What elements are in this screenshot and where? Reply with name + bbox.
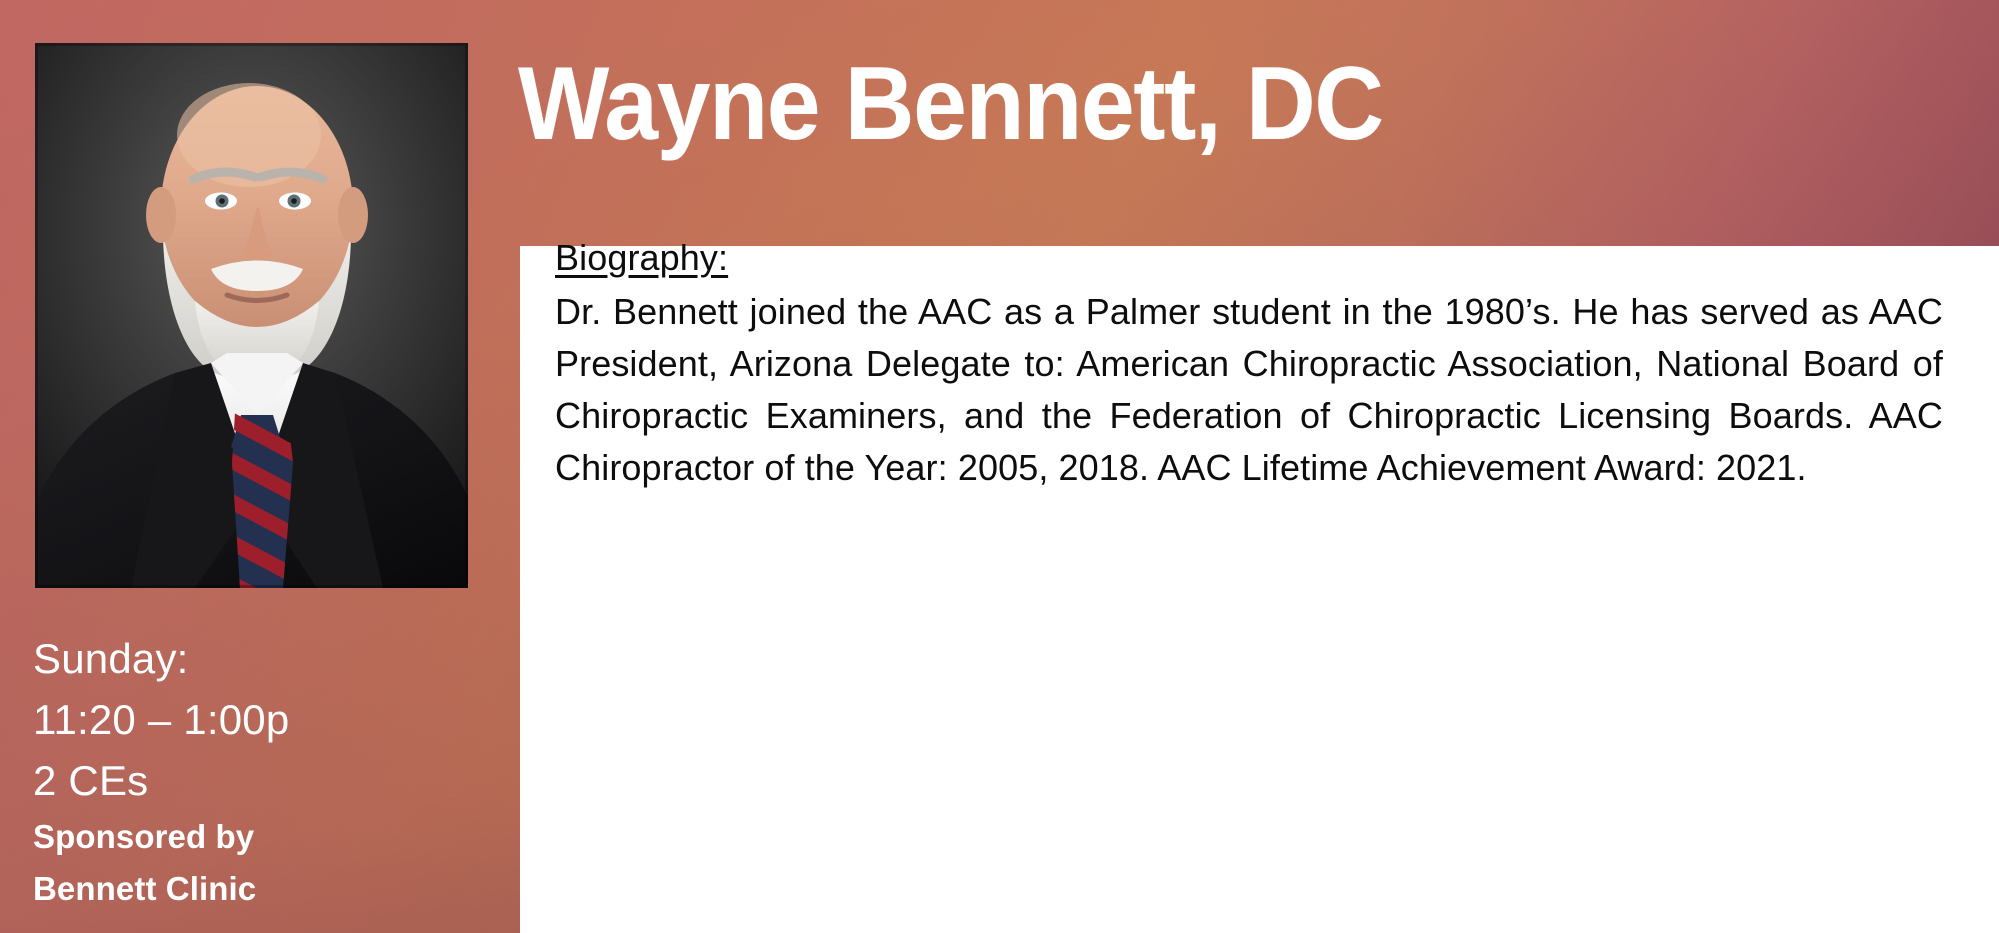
- speaker-slide: Biography: Dr. Bennett joined the AAC as…: [0, 0, 1999, 933]
- sponsor-label: Sponsored by: [33, 811, 503, 863]
- speaker-portrait-photo: [35, 43, 468, 588]
- schedule-credits: 2 CEs: [33, 750, 503, 811]
- sponsor-name: Bennett Clinic: [33, 863, 503, 915]
- biography-text: Dr. Bennett joined the AAC as a Palmer s…: [555, 286, 1943, 494]
- page-title: Wayne Bennett, DC: [518, 48, 1383, 160]
- schedule-time: 11:20 – 1:00p: [33, 689, 503, 750]
- schedule-day: Sunday:: [33, 628, 503, 689]
- biography-panel: Biography: Dr. Bennett joined the AAC as…: [520, 246, 1999, 933]
- biography-heading: Biography:: [555, 232, 1943, 284]
- biography-content: Biography: Dr. Bennett joined the AAC as…: [555, 232, 1943, 494]
- portrait-illustration: [35, 43, 468, 588]
- schedule-block: Sunday: 11:20 – 1:00p 2 CEs Sponsored by…: [33, 628, 503, 915]
